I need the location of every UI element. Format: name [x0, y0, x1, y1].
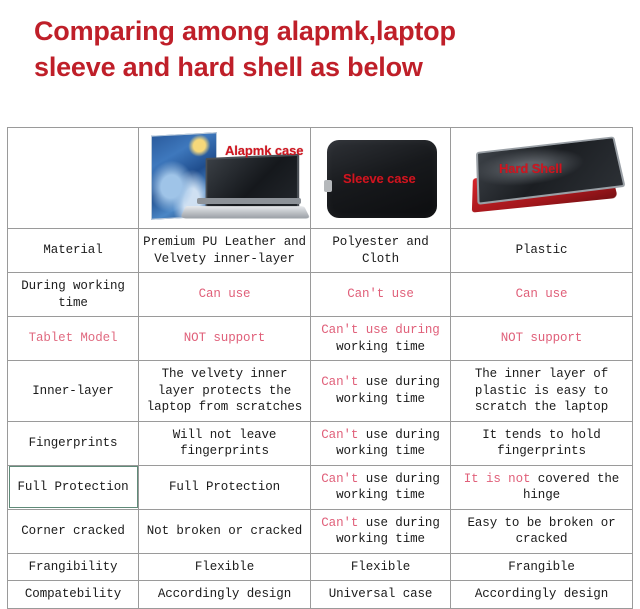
row-label-tablet-model: Tablet Model: [8, 317, 139, 361]
row-label-material: Material: [8, 229, 139, 273]
cell-protection-hardshell: It is not covered the hinge: [451, 465, 633, 509]
cell-material-alapmk: Premium PU Leather and Velvety inner-lay…: [139, 229, 311, 273]
cell-black-text: covered the hinge: [523, 472, 619, 503]
table-row: Frangibility Flexible Flexible Frangible: [8, 553, 633, 581]
cell-material-hardshell: Plastic: [451, 229, 633, 273]
cell-frangibility-sleeve: Flexible: [311, 553, 451, 581]
table-row: Full Protection Full Protection Can't us…: [8, 465, 633, 509]
cell-compat-alapmk: Accordingly design: [139, 581, 311, 609]
cell-inner-hardshell: The inner layer of plastic is easy to sc…: [451, 361, 633, 422]
header-cell-sleeve: Sleeve case: [311, 128, 451, 229]
table-body: Alapmk case Sleeve case: [8, 128, 633, 609]
table-row: Fingerprints Will not leave fingerprints…: [8, 421, 633, 465]
row-label-inner-layer: Inner-layer: [8, 361, 139, 422]
cell-black-text: Flexible: [195, 560, 254, 574]
cell-protection-alapmk: Full Protection: [139, 465, 311, 509]
row-label-frangibility: Frangibility: [8, 553, 139, 581]
comparison-table-wrap: Alapmk case Sleeve case: [7, 127, 632, 609]
cell-red-text: Can't use during: [321, 323, 439, 337]
cell-compat-hardshell: Accordingly design: [451, 581, 633, 609]
hardshell-product-label: Hard Shell: [499, 160, 562, 177]
cell-black-text: Accordingly design: [158, 587, 291, 601]
table-row: During working time Can use Can't use Ca…: [8, 273, 633, 317]
cell-tablet-hardshell: NOT support: [451, 317, 633, 361]
header-cell-alapmk: Alapmk case: [139, 128, 311, 229]
hardshell-product-image: Hard Shell: [451, 128, 632, 228]
table-row: Material Premium PU Leather and Velvety …: [8, 229, 633, 273]
alapmk-product-image: Alapmk case: [139, 128, 310, 228]
cell-fingerprints-hardshell: It tends to hold fingerprints: [451, 421, 633, 465]
cell-black-text: Accordingly design: [475, 587, 608, 601]
row-label-during-working-time: During working time: [8, 273, 139, 317]
cell-tablet-alapmk: NOT support: [139, 317, 311, 361]
cell-black-text: The inner layer of plastic is easy to sc…: [475, 367, 608, 414]
page-title: Comparing among alapmk,laptop sleeve and…: [34, 14, 624, 86]
cell-black-text: Flexible: [351, 560, 410, 574]
comparison-table: Alapmk case Sleeve case: [7, 127, 633, 609]
cell-red-text: Can't: [321, 375, 358, 389]
cell-black-text: Not broken or cracked: [147, 524, 302, 538]
table-row: Inner-layer The velvety inner layer prot…: [8, 361, 633, 422]
hardshell-illustration: [467, 136, 623, 220]
alapmk-product-label: Alapmk case: [225, 142, 303, 159]
cell-corner-hardshell: Easy to be broken or cracked: [451, 509, 633, 553]
cell-black-text: Frangible: [508, 560, 575, 574]
cell-black-text: Universal case: [329, 587, 433, 601]
sleeve-product-image: Sleeve case: [311, 128, 450, 228]
laptop-hinge-icon: [197, 198, 301, 204]
cell-material-sleeve: Polyester and Cloth: [311, 229, 451, 273]
cell-fingerprints-alapmk: Will not leave fingerprints: [139, 421, 311, 465]
cell-corner-sleeve: Can't use during working time: [311, 509, 451, 553]
cell-black-text: Plastic: [516, 243, 568, 257]
cell-protection-sleeve: Can't use during working time: [311, 465, 451, 509]
table-row: Corner cracked Not broken or cracked Can…: [8, 509, 633, 553]
header-cell-hardshell: Hard Shell: [451, 128, 633, 229]
cell-red-text: NOT support: [501, 331, 582, 345]
cell-red-text: NOT support: [184, 331, 265, 345]
cell-corner-alapmk: Not broken or cracked: [139, 509, 311, 553]
cell-red-text: Can't: [321, 516, 358, 530]
cell-black-text: working time: [336, 340, 425, 354]
cell-red-text: Can use: [199, 287, 251, 301]
row-label-compatebility: Compatebility: [8, 581, 139, 609]
sleeve-product-label: Sleeve case: [343, 170, 416, 187]
laptop-base-icon: [180, 206, 310, 218]
table-row: Compatebility Accordingly design Univers…: [8, 581, 633, 609]
row-label-fingerprints: Fingerprints: [8, 421, 139, 465]
cell-black-text: Will not leave fingerprints: [173, 428, 277, 459]
cell-red-text: Can use: [516, 287, 568, 301]
cell-frangibility-hardshell: Frangible: [451, 553, 633, 581]
cell-black-text: Premium PU Leather and Velvety inner-lay…: [143, 235, 306, 266]
header-cell-empty: [8, 128, 139, 229]
cell-compat-sleeve: Universal case: [311, 581, 451, 609]
cell-black-text: The velvety inner layer protects the lap…: [147, 367, 302, 414]
sleeve-zipper-icon: [324, 180, 332, 192]
cell-black-text: Polyester and Cloth: [332, 235, 428, 266]
product-header-row: Alapmk case Sleeve case: [8, 128, 633, 229]
cell-inner-alapmk: The velvety inner layer protects the lap…: [139, 361, 311, 422]
page-title-block: Comparing among alapmk,laptop sleeve and…: [0, 0, 624, 86]
cell-fingerprints-sleeve: Can't use during working time: [311, 421, 451, 465]
cell-tablet-sleeve: Can't use during working time: [311, 317, 451, 361]
row-label-full-protection[interactable]: Full Protection: [8, 465, 139, 509]
row-label-corner-cracked: Corner cracked: [8, 509, 139, 553]
table-row: Tablet Model NOT support Can't use durin…: [8, 317, 633, 361]
cell-red-text: Can't use: [347, 287, 414, 301]
cell-frangibility-alapmk: Flexible: [139, 553, 311, 581]
cell-black-text: Easy to be broken or cracked: [467, 516, 615, 547]
cell-black-text: It tends to hold fingerprints: [482, 428, 600, 459]
cell-red-text: Can't: [321, 472, 358, 486]
cell-black-text: Full Protection: [169, 480, 280, 494]
cell-working-hardshell: Can use: [451, 273, 633, 317]
cell-red-text: It is not: [464, 472, 531, 486]
cell-working-alapmk: Can use: [139, 273, 311, 317]
cell-working-sleeve: Can't use: [311, 273, 451, 317]
cell-inner-sleeve: Can't use during working time: [311, 361, 451, 422]
cell-red-text: Can't: [321, 428, 358, 442]
